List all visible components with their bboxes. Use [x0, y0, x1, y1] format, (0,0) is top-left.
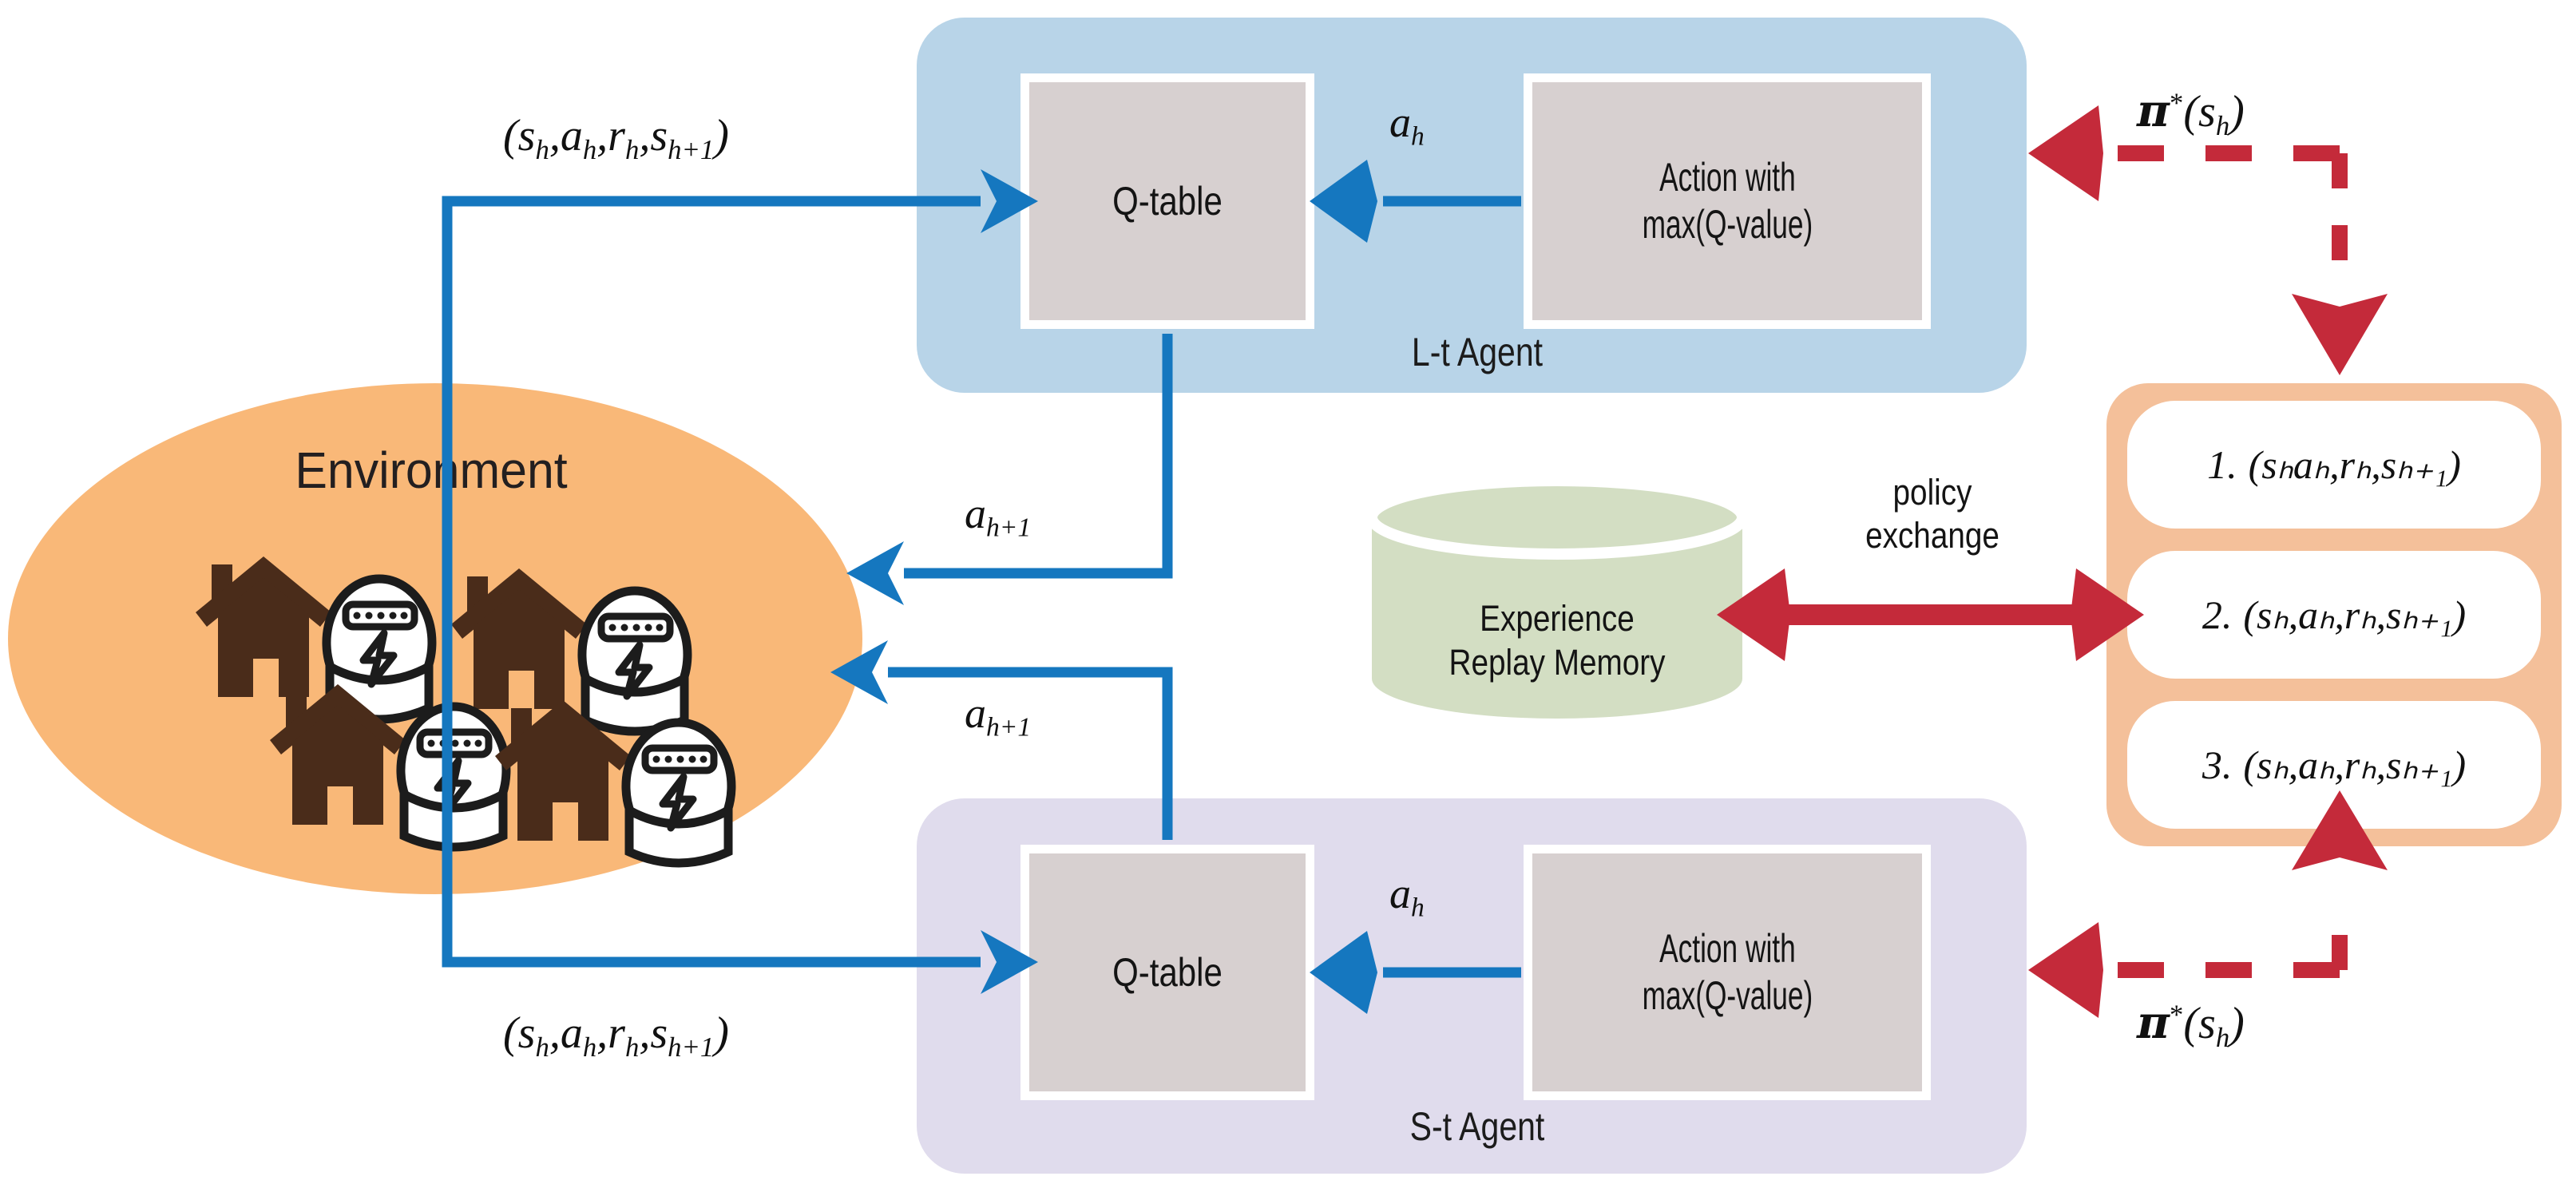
action-next-label-bottom: ah+1 — [965, 688, 1031, 743]
action-next-label-top: ah+1 — [965, 489, 1031, 544]
electric-meter-icon — [626, 723, 731, 863]
house-icon — [479, 691, 751, 874]
policy-list-item[interactable]: 2. (sₕ,aₕ,rₕ,sₕ₊₁) — [2127, 551, 2541, 679]
policy-item-index: 1. — [2207, 442, 2237, 488]
st-agent-label: S-t Agent — [1248, 1103, 1706, 1150]
policy-item-tuple: (sₕ,aₕ,rₕ,sₕ₊₁) — [2243, 742, 2466, 788]
lt-action-label: Action with max(Q-value) — [1626, 154, 1829, 248]
policy-list-item[interactable]: 1. (sₕaₕ,rₕ,sₕ₊₁) — [2127, 401, 2541, 529]
arrowhead — [2292, 294, 2388, 375]
st-action-box[interactable]: Action with max(Q-value) — [1524, 845, 1931, 1100]
lt-action-box[interactable]: Action with max(Q-value) — [1524, 73, 1931, 329]
diagram-canvas: Environment — [0, 0, 2576, 1188]
policy-list-item[interactable]: 3. (sₕ,aₕ,rₕ,sₕ₊₁) — [2127, 701, 2541, 829]
house-meter-group-4 — [479, 691, 751, 874]
arrow-env-to-st-qtable — [447, 948, 981, 962]
arrowhead — [2028, 922, 2103, 1018]
policy-label-bottom: π*(sh) — [2137, 996, 2245, 1054]
policy-exchange-label: policy exchange — [1757, 471, 2108, 557]
tuple-label-bottom: (sh,ah,rh,sh+1) — [503, 1008, 729, 1063]
environment-label: Environment — [204, 441, 659, 500]
st-action-arrow-label: ah — [1389, 869, 1425, 924]
lt-action-arrow-label: ah — [1389, 97, 1425, 152]
st-qtable-label: Q-table — [1112, 949, 1223, 996]
policy-item-index: 2. — [2202, 592, 2233, 638]
policy-label-top: π*(sh) — [2137, 85, 2245, 142]
st-qtable-box[interactable]: Q-table — [1020, 845, 1314, 1100]
lt-agent-label: L-t Agent — [1248, 329, 1706, 375]
st-action-label: Action with max(Q-value) — [1626, 925, 1829, 1020]
arrowhead — [2028, 105, 2103, 201]
lt-qtable-box[interactable]: Q-table — [1020, 73, 1314, 329]
policy-item-tuple: (sₕ,aₕ,rₕ,sₕ₊₁) — [2243, 592, 2466, 638]
policy-item-tuple: (sₕaₕ,rₕ,sₕ₊₁) — [2249, 442, 2461, 488]
lt-qtable-label: Q-table — [1112, 178, 1223, 225]
tuple-label-top: (sh,ah,rh,sh+1) — [503, 110, 729, 166]
replay-memory-label: Experience Replay Memory — [1365, 597, 1749, 685]
policy-item-index: 3. — [2202, 742, 2233, 788]
policy-list-box: 1. (sₕaₕ,rₕ,sₕ₊₁) 2. (sₕ,aₕ,rₕ,sₕ₊₁) 3. … — [2106, 383, 2562, 846]
